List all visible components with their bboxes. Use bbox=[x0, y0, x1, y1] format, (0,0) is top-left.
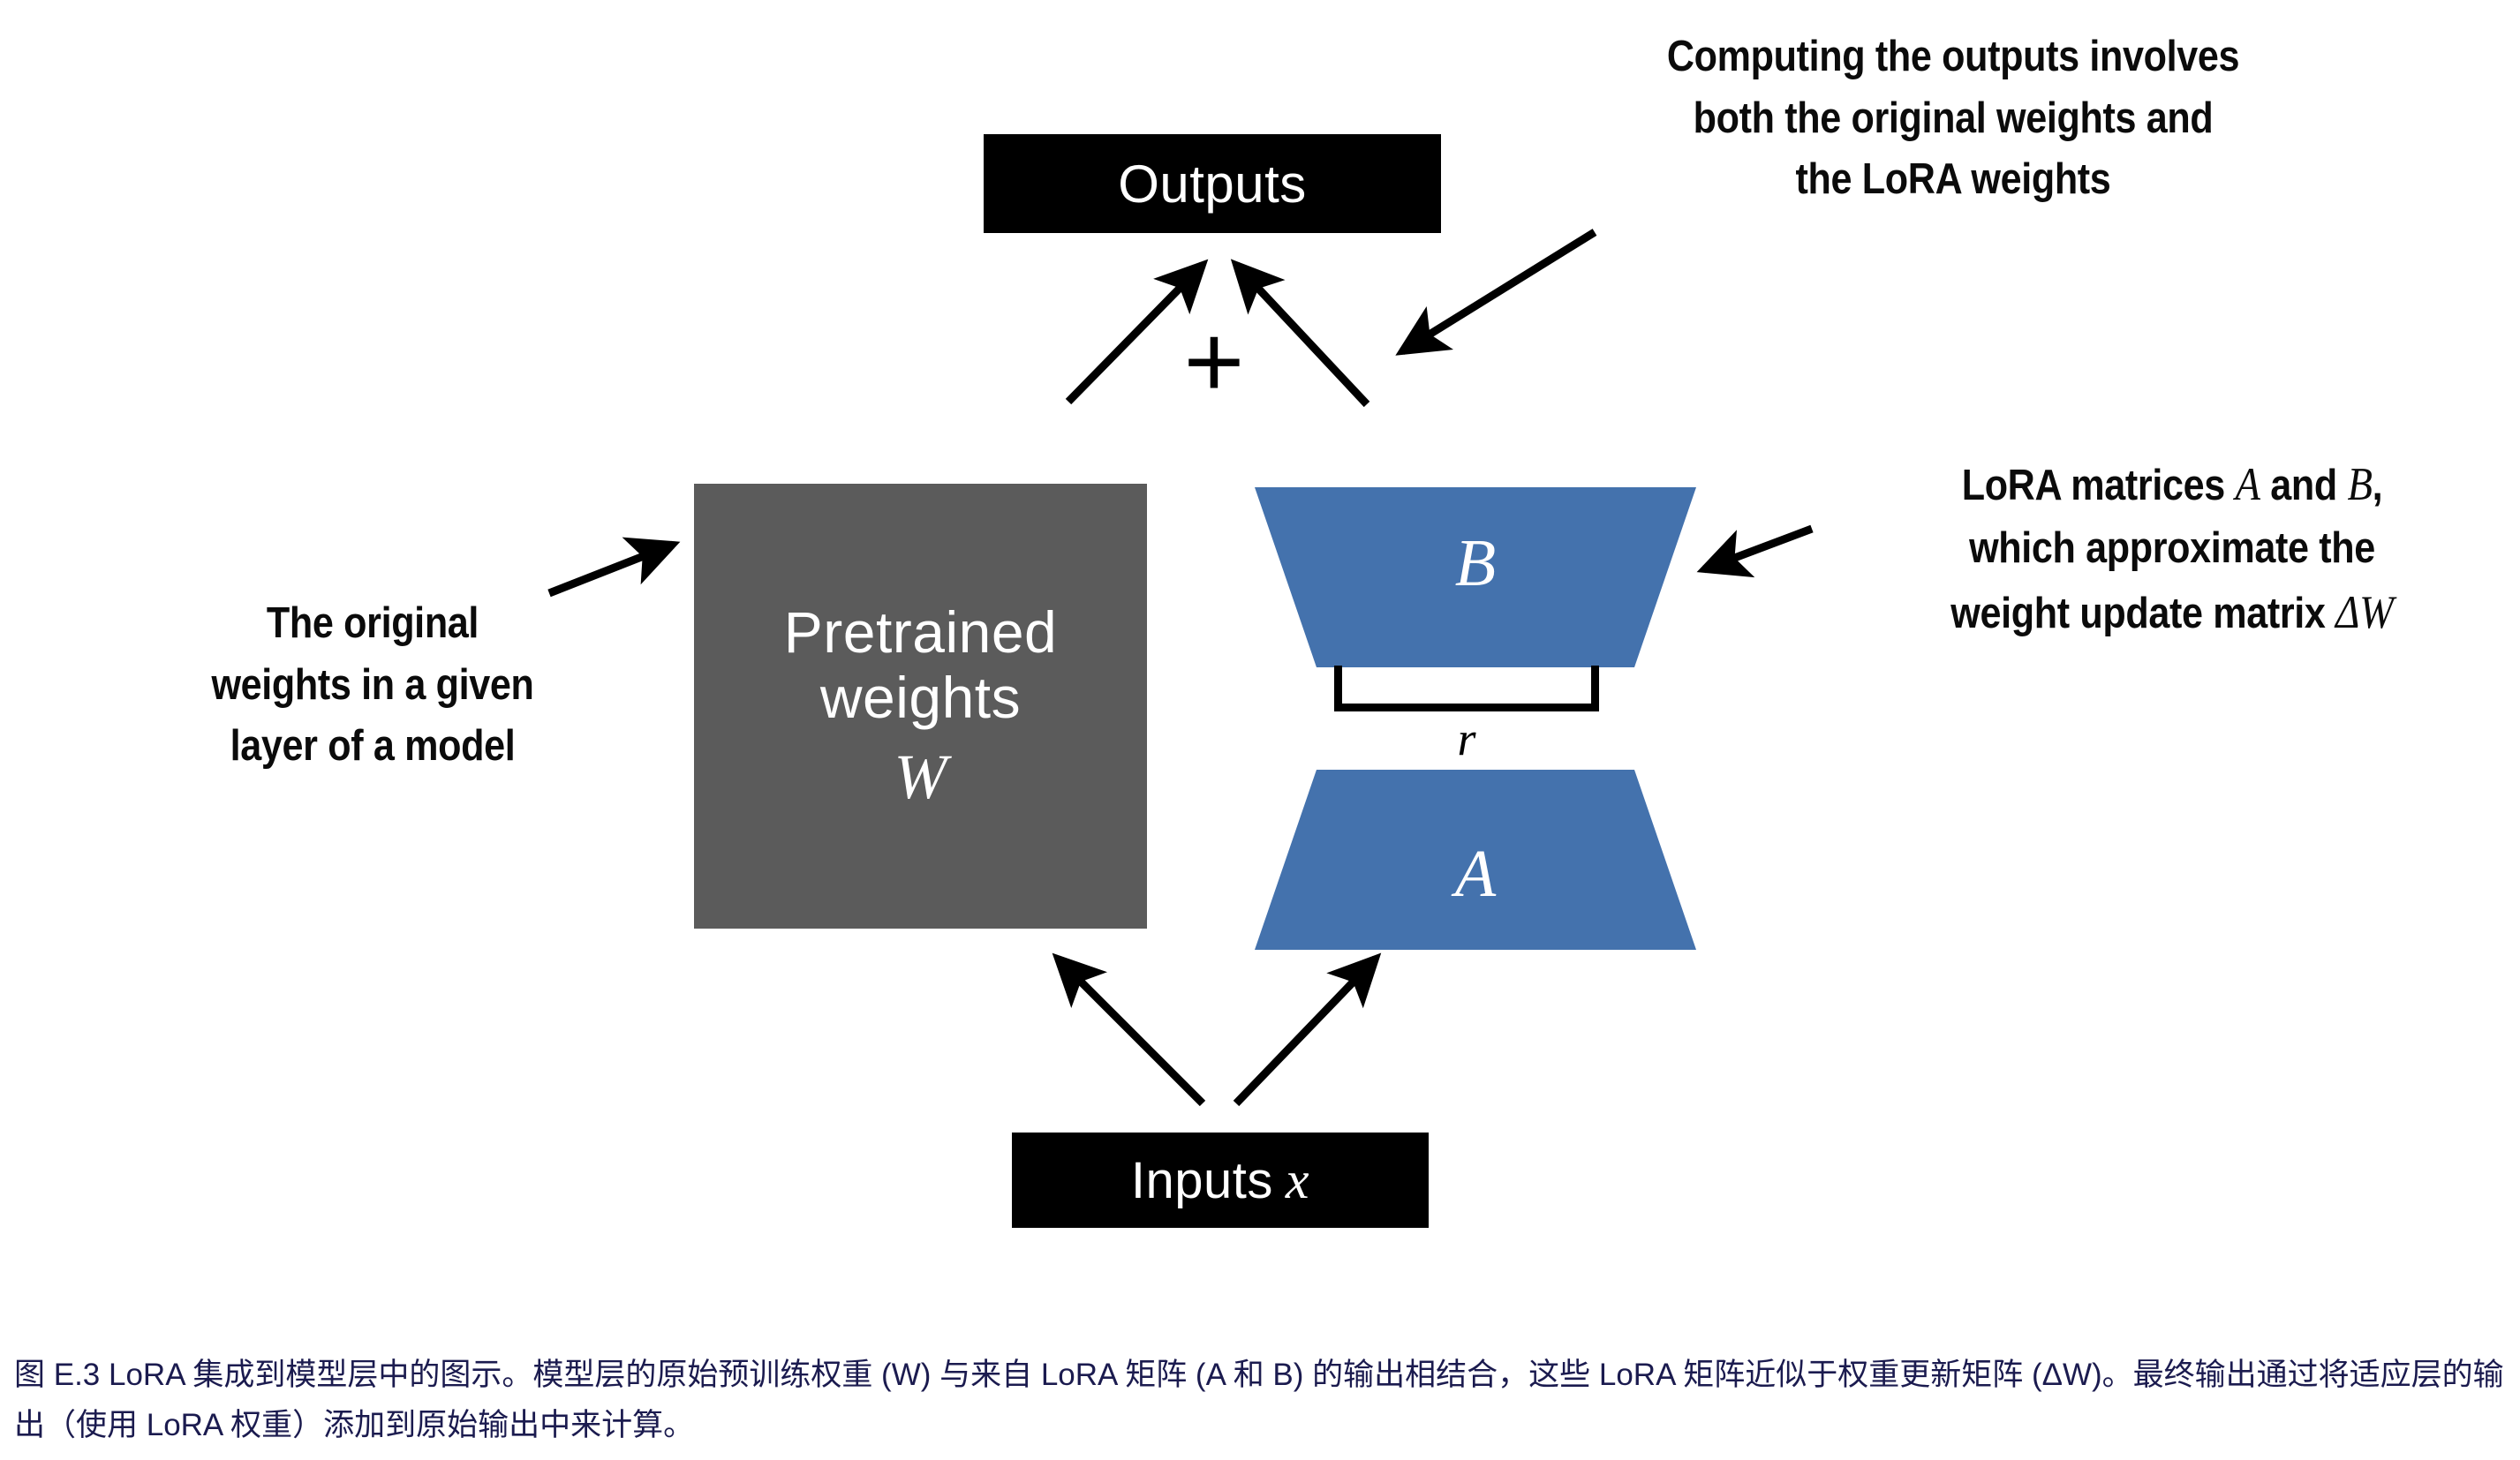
annotation-lora-line1-post: , bbox=[2373, 462, 2383, 509]
outputs-box-label: Outputs bbox=[1118, 154, 1307, 214]
arrow-to-lora-matrices bbox=[1704, 529, 1812, 569]
annotation-lora-delta-w-symbol: ΔW bbox=[2335, 587, 2394, 638]
inputs-box: Inputs x bbox=[1012, 1133, 1429, 1228]
plus-operator: + bbox=[1174, 327, 1254, 406]
annotation-original-line2: weights in a given bbox=[155, 655, 591, 717]
pretrained-weights-symbol: W bbox=[894, 741, 947, 813]
annotation-outputs-line1: Computing the outputs involves bbox=[1561, 26, 2346, 88]
inputs-box-label: Inputs bbox=[1131, 1151, 1273, 1210]
lora-diagram: Outputs + Pretrained weights W B r A Inp… bbox=[0, 0, 2520, 1306]
annotation-lora-line3-pre: weight update matrix bbox=[1950, 590, 2335, 637]
plus-operator-glyph: + bbox=[1184, 304, 1245, 420]
lora-matrix-b-label: B bbox=[1455, 525, 1496, 602]
annotation-lora-matrices: LoRA matrices A and B, which approximate… bbox=[1869, 452, 2475, 646]
annotation-original-line3: layer of a model bbox=[155, 716, 591, 778]
lora-matrix-a-label: A bbox=[1455, 836, 1496, 913]
pretrained-weights-line2: weights bbox=[820, 666, 1021, 731]
annotation-lora-matrix-b-symbol: B bbox=[2348, 459, 2373, 510]
annotation-lora-matrix-a-symbol: A bbox=[2236, 459, 2260, 510]
annotation-lora-line2: which approximate the bbox=[1869, 518, 2475, 580]
annotation-lora-line1-pre: LoRA matrices bbox=[1962, 462, 2236, 509]
arrow-inputs-to-lora bbox=[1236, 959, 1376, 1103]
annotation-original-line1: The original bbox=[155, 593, 591, 655]
annotation-outputs: Computing the outputs involves both the … bbox=[1561, 26, 2346, 211]
annotation-lora-line1-mid: and bbox=[2260, 462, 2348, 509]
lora-matrix-a-shape: A bbox=[1255, 770, 1696, 950]
annotation-outputs-line2: both the original weights and bbox=[1561, 88, 2346, 150]
rank-label: r bbox=[1334, 711, 1599, 766]
annotation-outputs-line3: the LoRA weights bbox=[1561, 149, 2346, 211]
annotation-lora-line1: LoRA matrices A and B, bbox=[1869, 452, 2475, 518]
arrow-lora-to-outputs bbox=[1236, 265, 1367, 404]
figure-caption: 图 E.3 LoRA 集成到模型层中的图示。模型层的原始预训练权重 (W) 与来… bbox=[14, 1351, 2504, 1450]
lora-matrix-b-shape: B bbox=[1255, 487, 1696, 667]
annotation-lora-line3: weight update matrix ΔW bbox=[1869, 580, 2475, 646]
inputs-box-variable: x bbox=[1286, 1150, 1309, 1211]
arrow-inputs-to-pretrained bbox=[1058, 959, 1203, 1103]
annotation-original-weights: The original weights in a given layer of… bbox=[155, 593, 591, 778]
arrow-to-outputs-sum bbox=[1402, 232, 1595, 351]
arrow-to-pretrained bbox=[549, 545, 673, 593]
pretrained-weights-line1: Pretrained bbox=[784, 600, 1058, 666]
rank-bracket bbox=[1334, 666, 1599, 711]
outputs-box: Outputs bbox=[984, 134, 1441, 233]
pretrained-weights-block: Pretrained weights W bbox=[694, 484, 1147, 929]
